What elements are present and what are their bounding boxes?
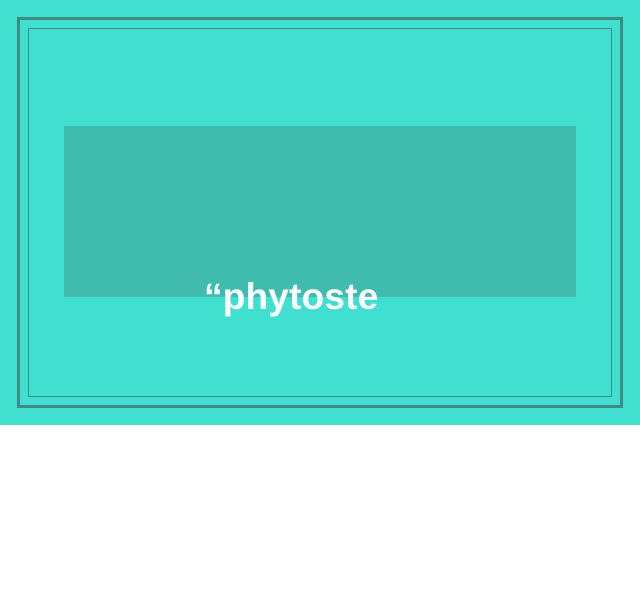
- title-line-2: rol”的英英意思: [195, 442, 565, 500]
- title-line-1: “phytoste: [195, 268, 565, 326]
- title-text-block: “phytoste rol”的英英意思: [195, 152, 565, 616]
- card-canvas: “phytoste rol”的英英意思: [0, 0, 640, 425]
- title-panel: “phytoste rol”的英英意思: [64, 126, 576, 297]
